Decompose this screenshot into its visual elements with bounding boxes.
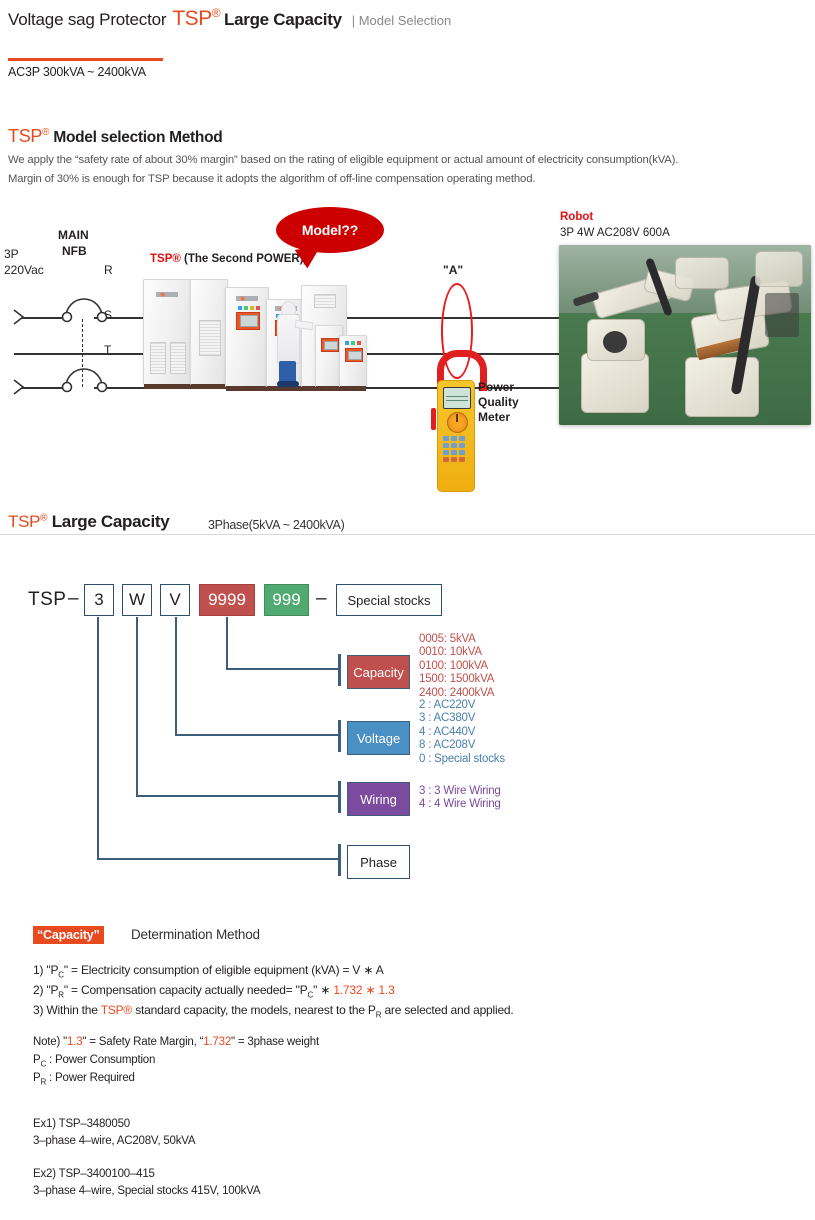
connector-voltage-vertical <box>175 617 177 736</box>
code-box-wiring[interactable]: W <box>122 584 152 616</box>
pc-definition: PC : Power Consumption <box>33 1054 155 1068</box>
formula2-pre: 2) "P <box>33 983 58 997</box>
pc-text: : Power Consumption <box>46 1054 155 1066</box>
stub-wiring <box>338 781 341 813</box>
phase-label-r: R <box>104 263 113 277</box>
tsp-cabinet-lineup <box>143 277 348 395</box>
header-subtitle: AC3P 300kVA ~ 2400kVA <box>8 65 146 79</box>
legend-box-wiring[interactable]: Wiring <box>347 782 410 816</box>
code-dash-2: – <box>316 588 327 610</box>
cabinet-7 <box>339 335 367 387</box>
formula-line-2: 2) "PR" = Compensation capacity actually… <box>33 983 395 999</box>
source-arrow-r <box>12 308 28 326</box>
legend-items-capacity: 0005: 5kVA 0010: 10kVA 0100: 100kVA 1500… <box>419 633 494 700</box>
legend-voltage-item-2: 4 : AC440V <box>419 726 505 739</box>
note-red-2: 1.732 <box>203 1036 231 1048</box>
legend-box-voltage[interactable]: Voltage <box>347 721 410 755</box>
formula3-mid: standard capacity, the models, nearest t… <box>132 1003 376 1017</box>
section2-title: TSP® Large Capacity <box>8 512 169 532</box>
pr-text: : Power Required <box>46 1072 135 1084</box>
robot-photo <box>559 245 811 425</box>
system-diagram: 3P 220Vac MAIN NFB R S T TSP® (The Secon… <box>0 195 815 495</box>
header-prefix: Voltage sag Protector <box>8 10 166 30</box>
example-1-line-2: 3–phase 4–wire, AC208V, 50kVA <box>33 1135 195 1147</box>
section1-paragraph-2: Margin of 30% is enough for TSP because … <box>8 173 535 185</box>
legend-voltage-item-4: 0 : Special stocks <box>419 753 505 766</box>
connector-wiring-vertical <box>136 617 138 797</box>
formula2-red: 1.732 ∗ 1.3 <box>333 983 394 997</box>
legend-items-wiring: 3 : 3 Wire Wiring 4 : 4 Wire Wiring <box>419 785 501 812</box>
nfb-label-main: MAIN <box>58 228 89 242</box>
section1-title: TSP® Model selection Method <box>8 126 222 147</box>
equipment-caption-text: (The Second POWER)) <box>184 253 307 265</box>
robot-bg-machine-1 <box>675 257 729 289</box>
legend-box-capacity[interactable]: Capacity <box>347 655 410 689</box>
cabinet-2 <box>190 279 228 385</box>
code-box-phase[interactable]: 3 <box>84 584 114 616</box>
legend-voltage-item-0: 2 : AC220V <box>419 699 505 712</box>
source-label-3p: 3P <box>4 247 19 261</box>
equipment-caption: TSP® (The Second POWER)) <box>150 253 307 265</box>
header-brand: TSP® <box>172 6 220 31</box>
legend-capacity-item-1: 0010: 10kVA <box>419 646 494 659</box>
legend-voltage-item-1: 3 : AC380V <box>419 712 505 725</box>
connector-phase-horizontal <box>97 858 340 860</box>
code-box-voltage[interactable]: V <box>160 584 190 616</box>
example-2-line-2: 3–phase 4–wire, Special stocks 415V, 100… <box>33 1185 260 1197</box>
power-quality-meter <box>434 350 476 490</box>
meter-label-line3: Meter <box>478 410 510 424</box>
meter-label-line2: Quality <box>478 395 519 409</box>
legend-items-voltage: 2 : AC220V 3 : AC380V 4 : AC440V 8 : AC2… <box>419 699 505 766</box>
section1-brand: TSP® <box>8 126 49 146</box>
connector-wiring-horizontal <box>136 795 340 797</box>
nfb-switch-t <box>58 361 110 395</box>
balloon-label: Model?? <box>302 222 358 238</box>
cabinet-1 <box>143 279 193 385</box>
legend-box-phase[interactable]: Phase <box>347 845 410 879</box>
pr-definition: PR : Power Required <box>33 1072 135 1086</box>
section1-paragraph-1: We apply the “safety rate of about 30% m… <box>8 154 678 166</box>
section2-subtitle: 3Phase(5kVA ~ 2400kVA) <box>208 518 344 532</box>
connector-capacity-horizontal <box>226 668 340 670</box>
formula3-pre: 3) Within the <box>33 1003 101 1017</box>
robot-bg-machine-2 <box>755 251 803 287</box>
model-question-balloon: Model?? <box>276 207 384 253</box>
code-box-capacity[interactable]: 9999 <box>199 584 255 616</box>
formula2-mid: " = Compensation capacity actually neede… <box>64 983 308 997</box>
source-label-voltage: 220Vac <box>4 263 44 277</box>
formula3-brand: TSP® <box>101 1003 132 1017</box>
connector-phase-vertical <box>97 617 99 860</box>
header-bold-title: Large Capacity <box>224 10 342 30</box>
robot-base-right <box>685 357 759 417</box>
page-header: Voltage sag Protector TSP® Large Capacit… <box>8 6 808 36</box>
connector-capacity-vertical <box>226 617 228 670</box>
code-box-special[interactable]: 999 <box>264 584 309 616</box>
note-mid: " = Safety Rate Margin, “ <box>82 1036 203 1048</box>
formula-line-1: 1) "PC" = Electricity consumption of eli… <box>33 963 384 979</box>
robot-bg-machine-3 <box>765 293 799 337</box>
section2-divider <box>0 534 815 535</box>
legend-voltage-item-3: 8 : AC208V <box>419 739 505 752</box>
example-2-line-1: Ex2) TSP–3400100–415 <box>33 1168 155 1180</box>
example-1-line-1: Ex1) TSP–3480050 <box>33 1118 130 1130</box>
robot-spec: 3P 4W AC208V 600A <box>560 227 670 239</box>
stub-voltage <box>338 720 341 752</box>
note-pre: Note) " <box>33 1036 67 1048</box>
formula2-post: " ∗ <box>313 983 333 997</box>
nfb-tie-line <box>82 319 83 387</box>
connector-voltage-horizontal <box>175 734 340 736</box>
meter-label-line1: Power <box>478 380 514 394</box>
stub-phase <box>338 844 341 876</box>
legend-wiring-item-1: 4 : 4 Wire Wiring <box>419 798 501 811</box>
stub-capacity <box>338 654 341 686</box>
code-prefix: TSP <box>28 589 66 611</box>
source-arrow-t <box>12 378 28 396</box>
formula1-pre: 1) "P <box>33 963 58 977</box>
equipment-caption-brand: TSP® <box>150 253 181 265</box>
note-red-1: 1.3 <box>67 1036 82 1048</box>
code-box-special-stocks[interactable]: Special stocks <box>336 584 442 616</box>
legend-wiring-item-0: 3 : 3 Wire Wiring <box>419 785 501 798</box>
section2-brand: TSP® <box>8 512 47 531</box>
section2-title-text: Large Capacity <box>52 512 170 531</box>
cabinet-3 <box>225 287 269 387</box>
note-line: Note) "1.3" = Safety Rate Margin, “1.732… <box>33 1036 319 1048</box>
capacity-section-title: Determination Method <box>131 927 260 942</box>
robot-base-left <box>581 353 649 413</box>
robot-motor-left <box>603 331 627 353</box>
formula3-post: are selected and applied. <box>381 1003 513 1017</box>
capacity-badge: “Capacity” <box>33 926 104 944</box>
note-post: " = 3phase weight <box>231 1036 319 1048</box>
phase-label-t: T <box>104 343 111 357</box>
clamp-point-label: "A" <box>443 263 463 277</box>
nfb-switch-r <box>58 291 110 325</box>
header-accent-rule <box>8 58 163 61</box>
robot-title: Robot <box>560 211 593 223</box>
section1-title-text: Model selection Method <box>53 129 222 146</box>
code-dash-1: – <box>68 588 79 610</box>
formula-line-3: 3) Within the TSP® standard capacity, th… <box>33 1003 514 1019</box>
model-code-row: TSP – 3 W V 9999 999 – Special stocks <box>0 584 600 618</box>
legend-capacity-item-3: 1500: 1500kVA <box>419 673 494 686</box>
legend-capacity-item-0: 0005: 5kVA <box>419 633 494 646</box>
legend-capacity-item-2: 0100: 100kVA <box>419 660 494 673</box>
nfb-label-nfb: NFB <box>62 244 87 258</box>
header-breadcrumb: | Model Selection <box>352 13 452 28</box>
formula1-post: " = Electricity consumption of eligible … <box>64 963 384 977</box>
